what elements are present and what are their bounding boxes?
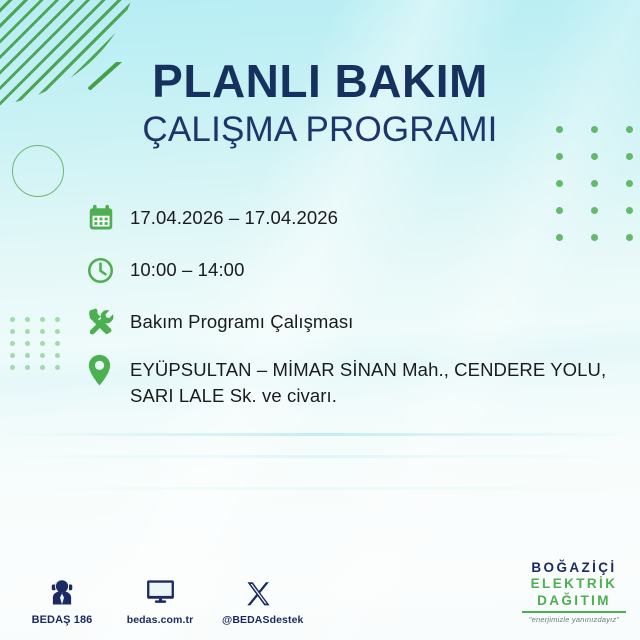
contact-x-account[interactable]: @BEDASdestek (222, 575, 294, 626)
contact-x-label: @BEDASdestek (222, 614, 294, 626)
contact-website[interactable]: bedas.com.tr (124, 575, 196, 626)
dot-grid-left-decoration (10, 317, 70, 377)
contact-website-label: bedas.com.tr (124, 614, 196, 626)
contact-channels: BEDAŞ 186 bedas.com.tr (26, 575, 294, 626)
poster-footer: BEDAŞ 186 bedas.com.tr (0, 544, 640, 640)
detail-row-work-type: Bakım Programı Çalışması (86, 304, 626, 340)
detail-row-time: 10:00 – 14:00 (86, 252, 626, 288)
detail-date-text: 17.04.2026 – 17.04.2026 (130, 200, 338, 231)
x-twitter-icon (222, 575, 294, 607)
calendar-icon (86, 200, 130, 236)
tools-icon (86, 304, 130, 340)
poster-heading-block: PLANLI BAKIM ÇALIŞMA PROGRAMI (0, 58, 640, 152)
detail-row-date: 17.04.2026 – 17.04.2026 (86, 200, 626, 236)
monitor-icon (124, 575, 196, 607)
brand-divider (522, 611, 626, 612)
detail-row-location: EYÜPSULTAN – MİMAR SİNAN Mah., CENDERE Y… (86, 352, 626, 410)
location-pin-icon (86, 352, 130, 388)
maintenance-details: 17.04.2026 – 17.04.2026 10:00 – 14:00 (86, 200, 626, 424)
contact-call-center-label: BEDAŞ 186 (26, 614, 98, 626)
brand-line-1: BOĞAZİÇİ (522, 561, 626, 575)
clock-icon (86, 252, 130, 288)
page-subtitle: ÇALIŞMA PROGRAMI (0, 108, 640, 152)
brand-tagline: "enerjimizle yanınızdayız" (522, 616, 626, 624)
bedas-logo: BOĞAZİÇİ ELEKTRİK DAĞITIM "enerjimizle y… (522, 561, 626, 623)
circle-outline-decoration (12, 145, 64, 197)
brand-line-2: ELEKTRİK (522, 577, 626, 591)
detail-time-text: 10:00 – 14:00 (130, 252, 244, 283)
brand-line-3: DAĞITIM (522, 594, 626, 608)
background-band-3 (0, 487, 640, 490)
background-band-1 (0, 433, 640, 436)
detail-location-text: EYÜPSULTAN – MİMAR SİNAN Mah., CENDERE Y… (130, 352, 626, 410)
detail-work-type-text: Bakım Programı Çalışması (130, 304, 353, 335)
page-title: PLANLI BAKIM (0, 58, 640, 106)
support-agent-icon (26, 575, 98, 607)
contact-call-center[interactable]: BEDAŞ 186 (26, 575, 98, 626)
background-band-2 (0, 455, 640, 458)
planned-maintenance-poster: PLANLI BAKIM ÇALIŞMA PROGRAMI (0, 0, 640, 640)
